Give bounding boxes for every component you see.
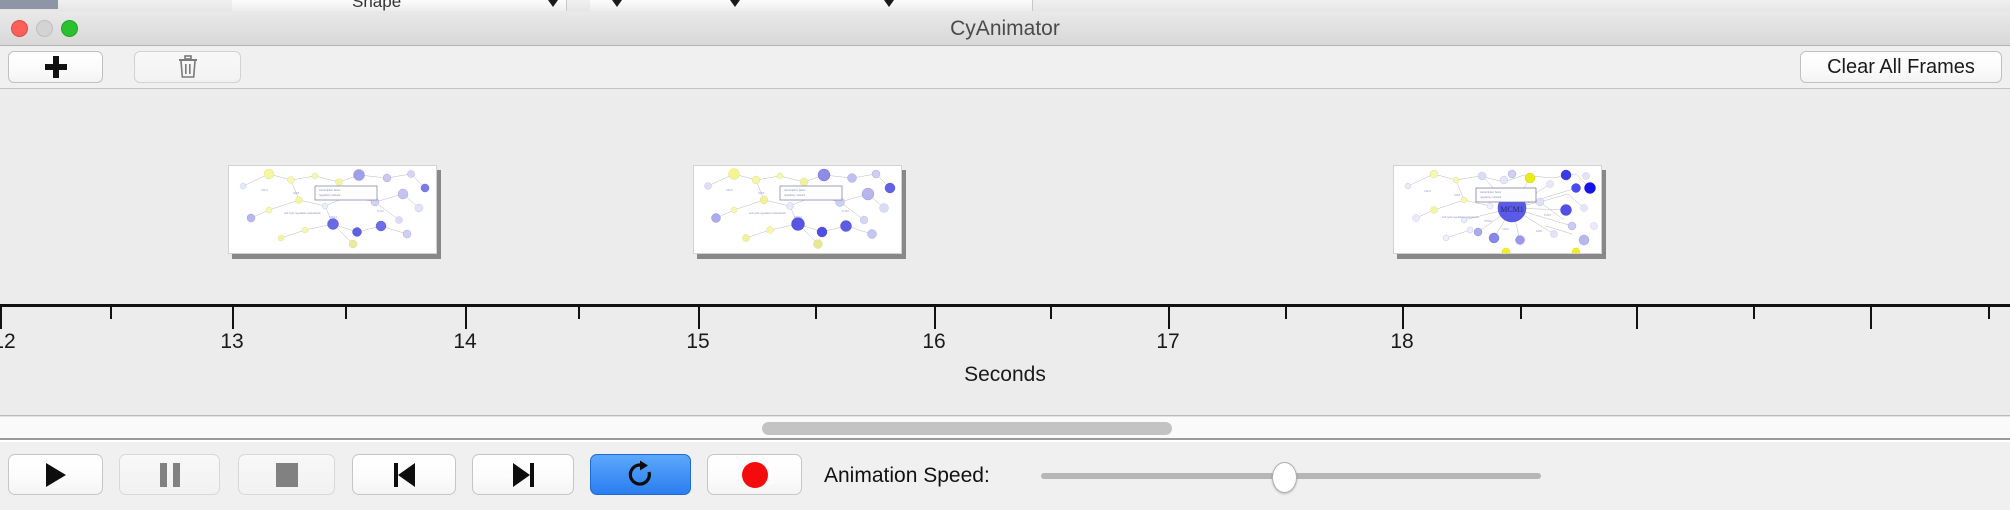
background-arc-2-icon bbox=[1944, 0, 1994, 11]
svg-text:regulatory network: regulatory network bbox=[1480, 195, 1502, 199]
timeline-axis-title: Seconds bbox=[0, 363, 2010, 387]
stop-icon bbox=[276, 463, 298, 487]
ruler-tick-major bbox=[1870, 307, 1872, 329]
frames-layer: ASH1SWI5 STE12FUS3 transcription factor … bbox=[0, 89, 2010, 304]
ruler-tick-major bbox=[1168, 307, 1170, 329]
svg-text:FUS3: FUS3 bbox=[1544, 213, 1551, 217]
svg-text:STE12: STE12 bbox=[1484, 219, 1492, 223]
ruler-label: 15 bbox=[686, 330, 709, 354]
timeline-frame[interactable]: ASH1SWI5 STE12FUS3 transcription factor … bbox=[228, 165, 441, 258]
timeline-scrollbar[interactable] bbox=[0, 416, 2010, 440]
animation-speed-slider[interactable] bbox=[1041, 468, 1541, 484]
skip-back-icon bbox=[394, 463, 415, 487]
skip-forward-icon bbox=[513, 463, 534, 487]
svg-text:regulatory network: regulatory network bbox=[784, 193, 806, 197]
ruler-label: 17 bbox=[1156, 330, 1179, 354]
svg-text:ASH1: ASH1 bbox=[1424, 189, 1431, 193]
hub-node-label: MCM1 bbox=[1500, 205, 1524, 214]
svg-text:CLN3: CLN3 bbox=[1502, 227, 1509, 231]
svg-text:transcription factor: transcription factor bbox=[784, 188, 805, 192]
background-tab-3 bbox=[518, 0, 567, 11]
ruler-tick-major bbox=[465, 307, 467, 329]
ruler-label: 18 bbox=[1390, 330, 1413, 354]
play-icon bbox=[46, 463, 66, 487]
toolbar: Clear All Frames bbox=[0, 46, 2010, 89]
svg-text:SWI5: SWI5 bbox=[1454, 193, 1461, 197]
stop-button[interactable] bbox=[238, 454, 335, 495]
titlebar: CyAnimator bbox=[0, 11, 2010, 46]
pause-button[interactable] bbox=[119, 454, 220, 495]
pause-icon bbox=[160, 463, 180, 487]
background-caret-4-icon bbox=[884, 0, 894, 7]
record-icon bbox=[742, 462, 768, 488]
svg-text:ASH1: ASH1 bbox=[261, 188, 268, 192]
background-tab-5 bbox=[682, 0, 833, 11]
timeline-frame[interactable]: MCM1 ASH1SWI5 STE12FUS3 FAR1CLN3 transcr… bbox=[1393, 165, 1606, 258]
svg-text:cell cycle regulation subnetwo: cell cycle regulation subnetwork bbox=[284, 211, 321, 215]
svg-text:STE12: STE12 bbox=[794, 215, 802, 219]
background-caret-2-icon bbox=[612, 0, 622, 7]
background-tab-4 bbox=[590, 0, 683, 11]
loop-icon bbox=[626, 460, 656, 490]
svg-text:regulatory network: regulatory network bbox=[319, 193, 341, 197]
background-caret-icon bbox=[548, 0, 558, 7]
background-window-sliver: Shape bbox=[0, 0, 2010, 11]
loop-button[interactable] bbox=[590, 454, 691, 495]
background-window-titlebar bbox=[0, 0, 58, 9]
timeline-ruler[interactable]: 12 13 14 15 16 17 18 bbox=[0, 304, 2010, 344]
frame-thumbnail: ASH1SWI5 STE12FUS3 transcription factor … bbox=[693, 165, 902, 254]
slider-thumb[interactable] bbox=[1272, 462, 1297, 493]
record-button[interactable] bbox=[707, 454, 802, 495]
svg-text:transcription factor: transcription factor bbox=[319, 188, 340, 192]
ruler-label: 13 bbox=[220, 330, 243, 354]
window-title: CyAnimator bbox=[0, 11, 2010, 46]
clear-all-frames-button[interactable]: Clear All Frames bbox=[1800, 51, 2002, 83]
ruler-tick-minor bbox=[815, 307, 817, 319]
scrollbar-thumb[interactable] bbox=[762, 422, 1172, 435]
plus-icon bbox=[45, 56, 67, 78]
ruler-label: 14 bbox=[453, 330, 476, 354]
background-caret-3-icon bbox=[730, 0, 740, 7]
ruler-tick-minor bbox=[345, 307, 347, 319]
trash-icon bbox=[178, 55, 198, 79]
ruler-tick-minor bbox=[1753, 307, 1755, 319]
svg-text:ASH1: ASH1 bbox=[726, 188, 733, 192]
ruler-tick-minor bbox=[1520, 307, 1522, 319]
ruler-label: 12 bbox=[0, 330, 16, 354]
ruler-tick-minor bbox=[1285, 307, 1287, 319]
delete-frame-button[interactable] bbox=[134, 51, 241, 83]
timeline-frame[interactable]: ASH1SWI5 STE12FUS3 transcription factor … bbox=[693, 165, 906, 258]
ruler-tick-major bbox=[698, 307, 700, 329]
background-arc-1-icon bbox=[1880, 0, 1930, 11]
ruler-axis-line bbox=[0, 304, 2010, 307]
svg-text:SWI5: SWI5 bbox=[293, 191, 300, 195]
ruler-tick-minor bbox=[578, 307, 580, 319]
ruler-tick-minor bbox=[110, 307, 112, 319]
ruler-tick-major bbox=[1402, 307, 1404, 329]
ruler-tick-major bbox=[0, 307, 2, 329]
svg-text:FUS3: FUS3 bbox=[377, 209, 384, 213]
svg-text:FUS3: FUS3 bbox=[842, 209, 849, 213]
ruler-tick-major bbox=[934, 307, 936, 329]
add-frame-button[interactable] bbox=[8, 51, 103, 83]
cyanimator-window: Shape CyAnimator bbox=[0, 0, 2010, 510]
ruler-label: 16 bbox=[922, 330, 945, 354]
skip-to-start-button[interactable] bbox=[352, 454, 456, 495]
background-tab-6 bbox=[832, 0, 1033, 11]
ruler-tick-minor bbox=[1050, 307, 1052, 319]
ruler-tick-minor bbox=[1988, 307, 1990, 319]
frame-thumbnail: ASH1SWI5 STE12FUS3 transcription factor … bbox=[228, 165, 437, 254]
background-window-label: Shape bbox=[352, 0, 401, 11]
svg-text:cell cycle regulation subnetwo: cell cycle regulation subnetwork bbox=[749, 211, 786, 215]
svg-text:STE12: STE12 bbox=[329, 215, 337, 219]
timeline-panel[interactable]: ASH1SWI5 STE12FUS3 transcription factor … bbox=[0, 89, 2010, 416]
play-button[interactable] bbox=[8, 454, 103, 495]
ruler-tick-major bbox=[232, 307, 234, 329]
ruler-tick-major bbox=[1636, 307, 1638, 329]
player-controls: Animation Speed: bbox=[0, 442, 2010, 510]
background-tab-2 bbox=[418, 0, 519, 11]
svg-text:SWI5: SWI5 bbox=[758, 191, 765, 195]
svg-text:transcription factor: transcription factor bbox=[1480, 190, 1501, 194]
skip-to-end-button[interactable] bbox=[472, 454, 574, 495]
svg-text:cell cycle regulation subnetwo: cell cycle regulation subnetwork bbox=[1442, 215, 1479, 219]
animation-speed-label: Animation Speed: bbox=[824, 442, 990, 510]
frame-thumbnail: MCM1 ASH1SWI5 STE12FUS3 FAR1CLN3 transcr… bbox=[1393, 165, 1602, 254]
svg-text:FAR1: FAR1 bbox=[1536, 229, 1543, 233]
